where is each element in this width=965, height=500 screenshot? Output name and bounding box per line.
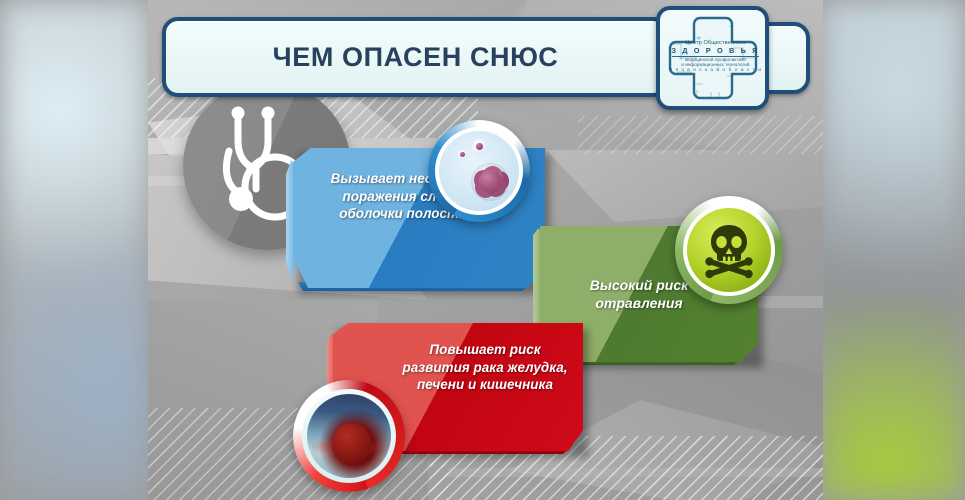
background-band xyxy=(448,468,823,477)
letterbox-blur-right xyxy=(820,0,965,500)
cancer-cell-cluster-icon xyxy=(439,131,519,211)
cancer-cell-cluster-badge xyxy=(428,120,530,222)
tumor-badge xyxy=(293,380,405,492)
tumor-microscopy-icon xyxy=(307,394,391,478)
logo-line-5: Р я з а н с к о й о б л а с т и xyxy=(666,68,765,73)
infographic-slide: ЧЕМ ОПАСЕН СНЮС xyxy=(0,0,965,500)
slide-canvas: ЧЕМ ОПАСЕН СНЮС xyxy=(148,0,823,500)
background-band xyxy=(546,150,823,222)
logo-text-block: Центр Общественного З Д О Р О В Ь Я меди… xyxy=(666,40,765,73)
skull-and-crossbones-icon xyxy=(687,208,771,292)
organization-logo: Центр Общественного З Д О Р О В Ь Я меди… xyxy=(656,6,769,110)
page-title: ЧЕМ ОПАСЕН СНЮС xyxy=(162,17,669,97)
poison-badge xyxy=(675,196,783,304)
callout-text: Повышает риск развития рака желудка, печ… xyxy=(395,341,575,394)
header-banner: ЧЕМ ОПАСЕН СНЮС xyxy=(148,0,823,110)
logo-line-2: З Д О Р О В Ь Я xyxy=(666,47,765,55)
nucleus-small xyxy=(460,152,465,157)
skull-glyph xyxy=(699,220,759,280)
nucleus-medium xyxy=(476,143,483,150)
letterbox-blur-left xyxy=(0,0,150,500)
tumor-mass xyxy=(332,423,371,465)
